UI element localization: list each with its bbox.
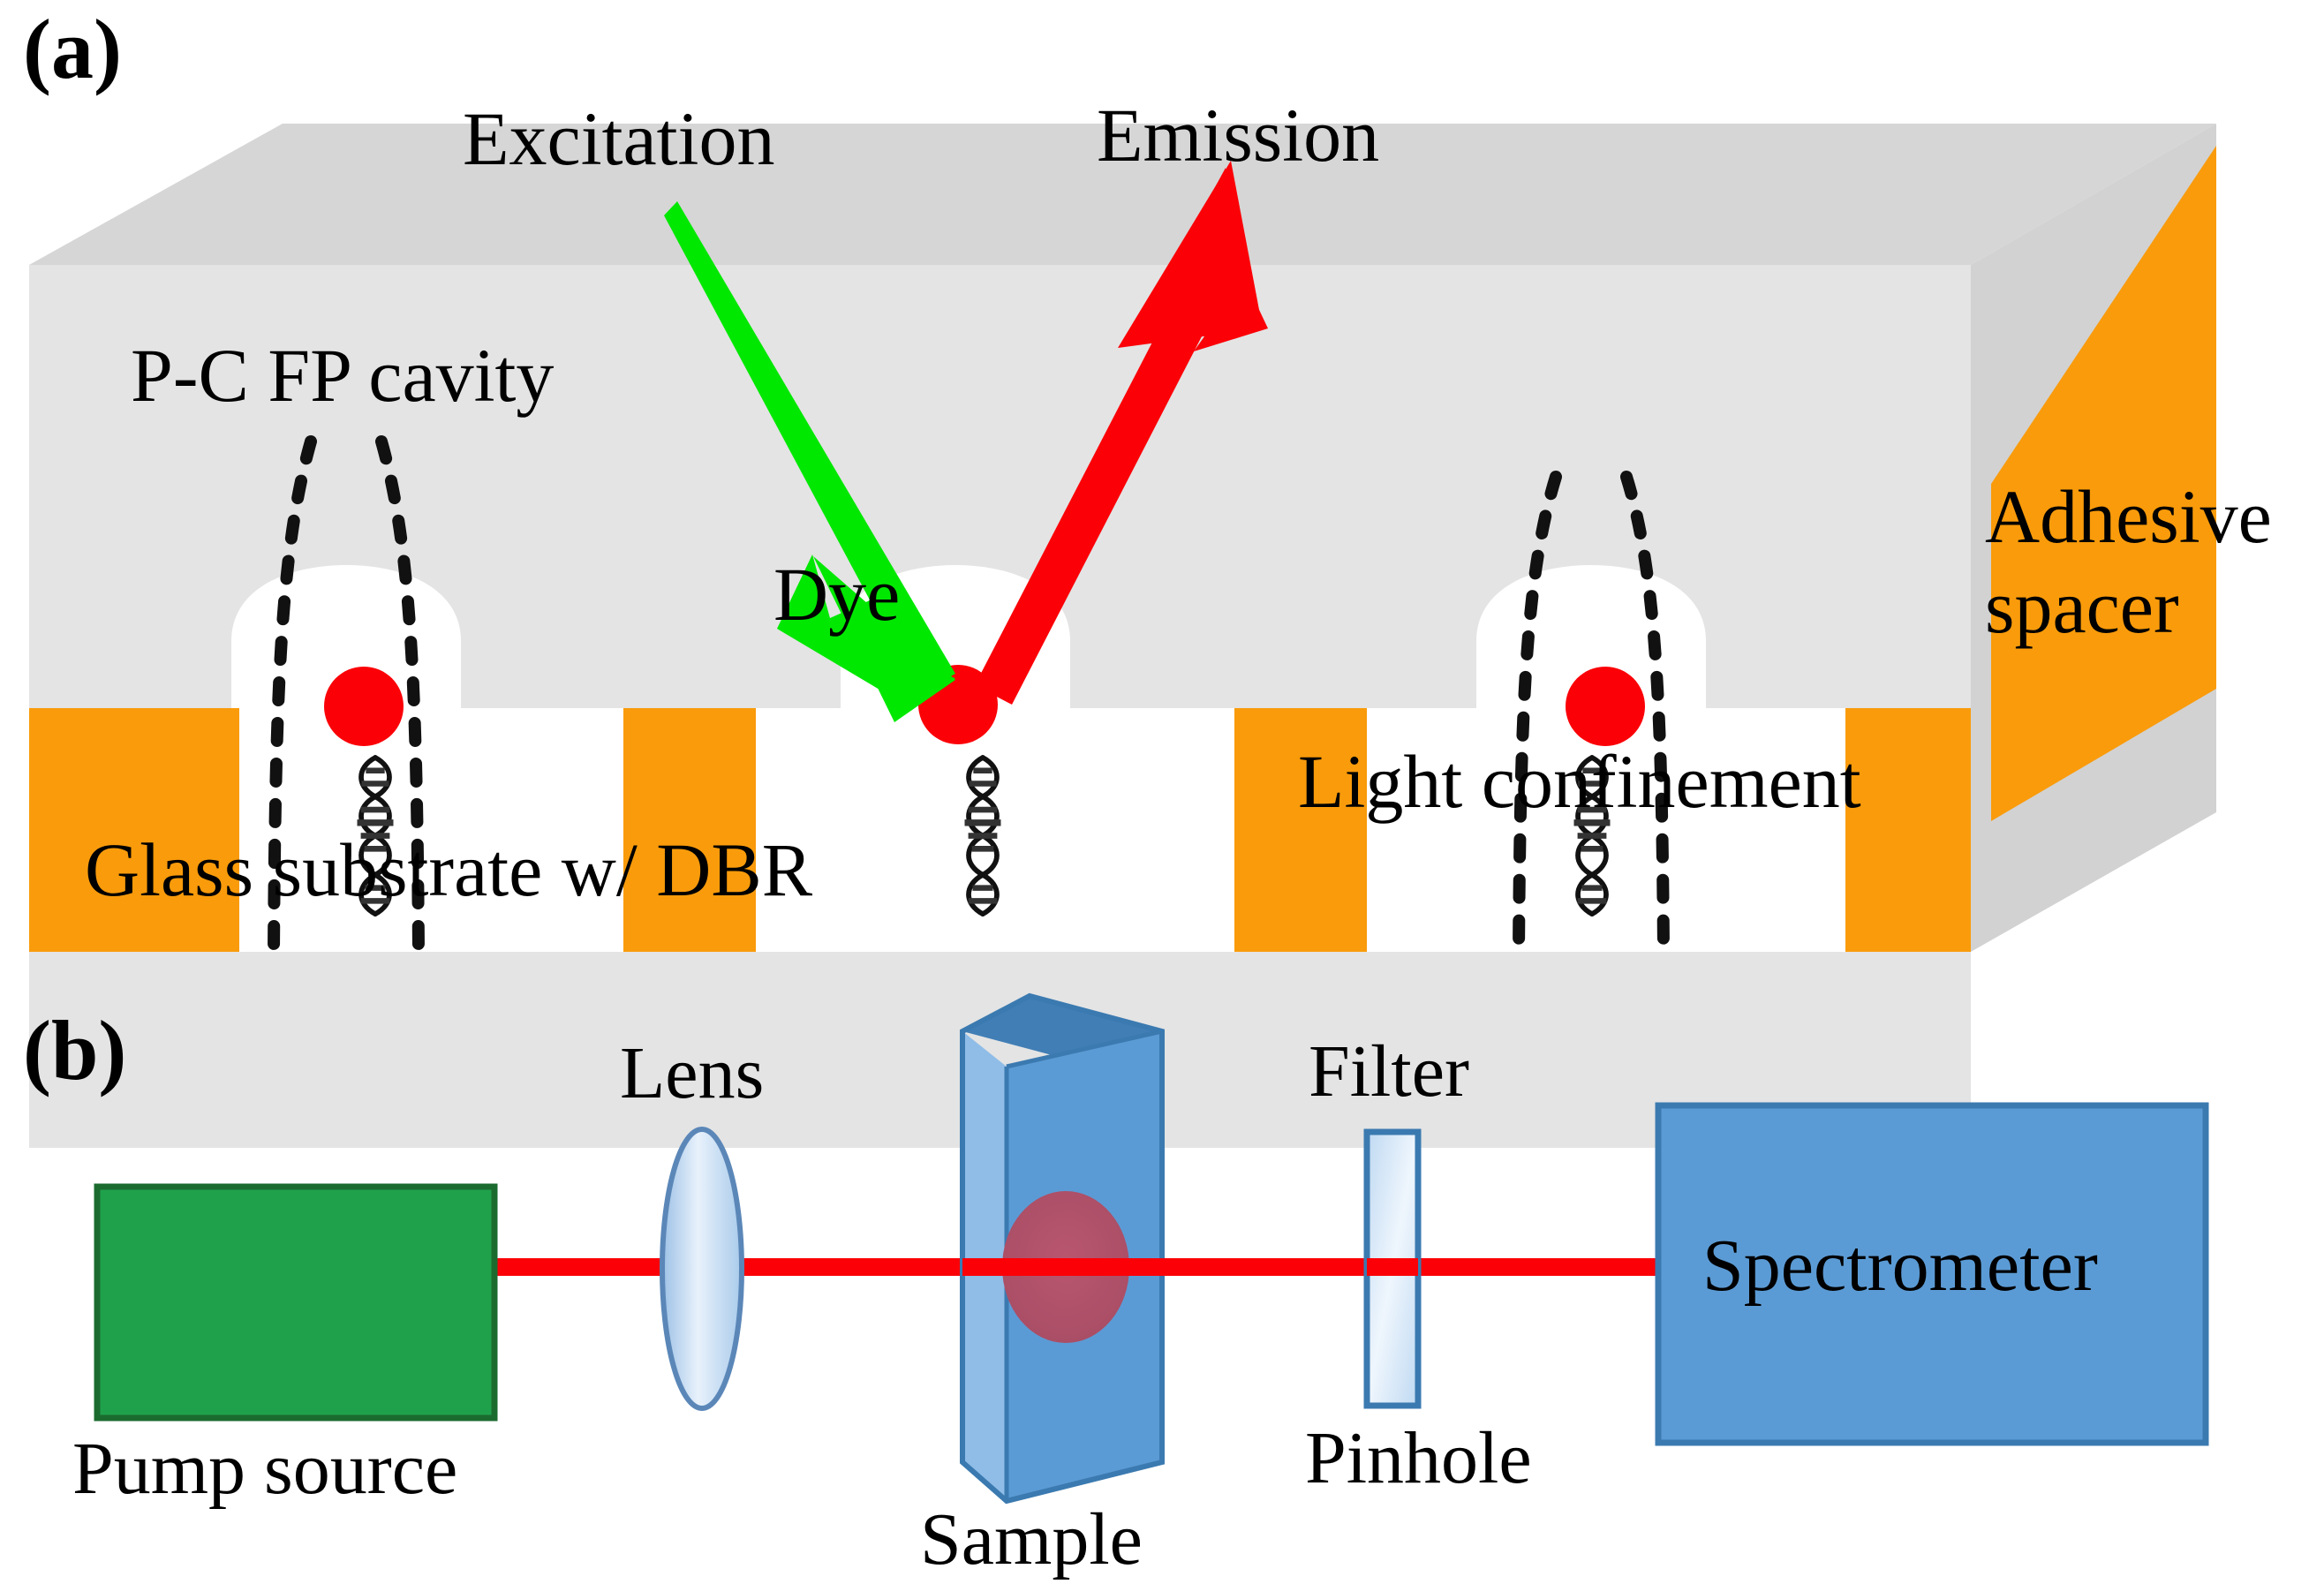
optical-beam-through-filter [1367,1258,1418,1276]
panel-b-graphics [0,0,2324,1584]
panel-b-tag: (b) [23,1007,126,1096]
pinhole-label: Pinhole [1305,1420,1532,1497]
filter-label: Filter [1309,1033,1469,1111]
figure-root: (a) Excitation Emission P-C FP cavity Dy… [0,0,2324,1584]
pump-source-box [97,1187,494,1418]
sample-label: Sample [920,1501,1143,1579]
optical-beam-through-sample [962,1258,1192,1276]
spectrometer-label: Spectrometer [1702,1227,2098,1305]
pump-source-label: Pump source [72,1430,457,1508]
lens-element [662,1129,742,1408]
lens-label: Lens [620,1035,764,1113]
